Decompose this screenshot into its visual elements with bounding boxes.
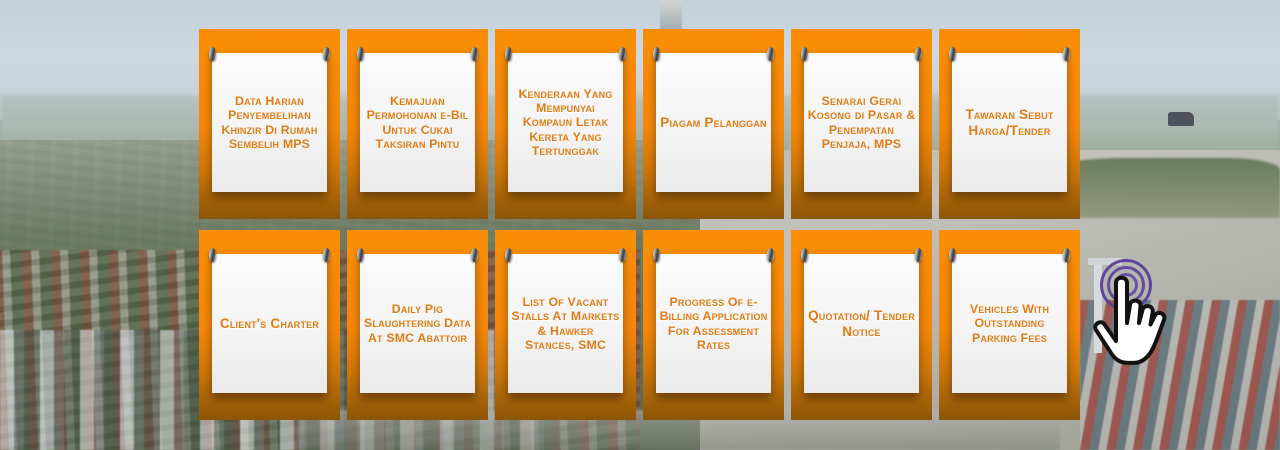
paper-clip-icon (1063, 47, 1070, 61)
card-kenderaan-kompaun-letak-kereta[interactable]: Kenderaan Yang Mempunyai Kompaun Letak K… (495, 29, 636, 219)
paper-clip-icon (209, 47, 216, 61)
card-paper[interactable]: Client's Charter (212, 254, 327, 393)
paper-clip-icon (801, 248, 808, 262)
paper-clip-icon (619, 248, 626, 262)
card-title: List Of Vacant Stalls At Markets & Hawke… (511, 295, 620, 351)
paper-clip-icon (949, 248, 956, 262)
card-quotation-tender-notice[interactable]: Quotation/ Tender Notice (791, 230, 932, 420)
card-title: Quotation/ Tender Notice (807, 308, 916, 340)
card-title: Tawaran Sebut Harga/Tender (955, 107, 1064, 139)
card-daily-pig-slaughtering-data[interactable]: Daily Pig Slaughtering Data At SMC Abatt… (347, 230, 488, 420)
card-title: Kemajuan Permohonan e-Bil Untuk Cukai Ta… (363, 94, 472, 150)
card-senarai-gerai-kosong[interactable]: Senarai Gerai Kosong di Pasar & Penempat… (791, 29, 932, 219)
background-crane-mast (1094, 258, 1102, 353)
background-port-containers (1080, 300, 1280, 450)
card-paper[interactable]: Piagam Pelanggan (656, 53, 771, 192)
paper-clip-icon (323, 47, 330, 61)
card-title: Progress Of e-Billing Application For As… (659, 295, 768, 351)
card-paper[interactable]: Quotation/ Tender Notice (804, 254, 919, 393)
card-paper[interactable]: Kemajuan Permohonan e-Bil Untuk Cukai Ta… (360, 53, 475, 192)
card-data-harian-penyembelihan[interactable]: Data Harian Penyembelihan Khinzir Di Rum… (199, 29, 340, 219)
paper-clip-icon (915, 47, 922, 61)
card-paper[interactable]: Kenderaan Yang Mempunyai Kompaun Letak K… (508, 53, 623, 192)
card-tawaran-sebut-harga-tender[interactable]: Tawaran Sebut Harga/Tender (939, 29, 1080, 219)
paper-clip-icon (357, 47, 364, 61)
card-kemajuan-permohonan-e-bil[interactable]: Kemajuan Permohonan e-Bil Untuk Cukai Ta… (347, 29, 488, 219)
paper-clip-icon (505, 47, 512, 61)
paper-clip-icon (323, 248, 330, 262)
card-title: Vehicles With Outstanding Parking Fees (955, 302, 1064, 344)
paper-clip-icon (619, 47, 626, 61)
card-progress-of-e-billing-application[interactable]: Progress Of e-Billing Application For As… (643, 230, 784, 420)
card-paper[interactable]: Senarai Gerai Kosong di Pasar & Penempat… (804, 53, 919, 192)
card-title: Kenderaan Yang Mempunyai Kompaun Letak K… (511, 87, 620, 157)
paper-clip-icon (1063, 248, 1070, 262)
paper-clip-icon (357, 248, 364, 262)
paper-clip-icon (949, 47, 956, 61)
card-paper[interactable]: List Of Vacant Stalls At Markets & Hawke… (508, 254, 623, 393)
card-vehicles-outstanding-parking-fees[interactable]: Vehicles With Outstanding Parking Fees (939, 230, 1080, 420)
paper-clip-icon (653, 47, 660, 61)
background-crane-arm (1088, 258, 1122, 265)
card-paper[interactable]: Tawaran Sebut Harga/Tender (952, 53, 1067, 192)
card-title: Daily Pig Slaughtering Data At SMC Abatt… (363, 302, 472, 344)
paper-clip-icon (653, 248, 660, 262)
card-paper[interactable]: Vehicles With Outstanding Parking Fees (952, 254, 1067, 393)
card-title: Client's Charter (220, 316, 319, 332)
card-piagam-pelanggan[interactable]: Piagam Pelanggan (643, 29, 784, 219)
card-title: Senarai Gerai Kosong di Pasar & Penempat… (807, 94, 916, 150)
card-paper[interactable]: Data Harian Penyembelihan Khinzir Di Rum… (212, 53, 327, 192)
card-title: Piagam Pelanggan (660, 115, 766, 131)
card-paper[interactable]: Daily Pig Slaughtering Data At SMC Abatt… (360, 254, 475, 393)
paper-clip-icon (915, 248, 922, 262)
card-grid: Data Harian Penyembelihan Khinzir Di Rum… (199, 29, 1081, 420)
card-clients-charter[interactable]: Client's Charter (199, 230, 340, 420)
paper-clip-icon (767, 47, 774, 61)
paper-clip-icon (801, 47, 808, 61)
paper-clip-icon (767, 248, 774, 262)
paper-clip-icon (209, 248, 216, 262)
background-boat (1168, 112, 1194, 126)
card-paper[interactable]: Progress Of e-Billing Application For As… (656, 254, 771, 393)
paper-clip-icon (505, 248, 512, 262)
card-list-of-vacant-stalls[interactable]: List Of Vacant Stalls At Markets & Hawke… (495, 230, 636, 420)
card-title: Data Harian Penyembelihan Khinzir Di Rum… (215, 94, 324, 150)
paper-clip-icon (471, 47, 478, 61)
paper-clip-icon (471, 248, 478, 262)
